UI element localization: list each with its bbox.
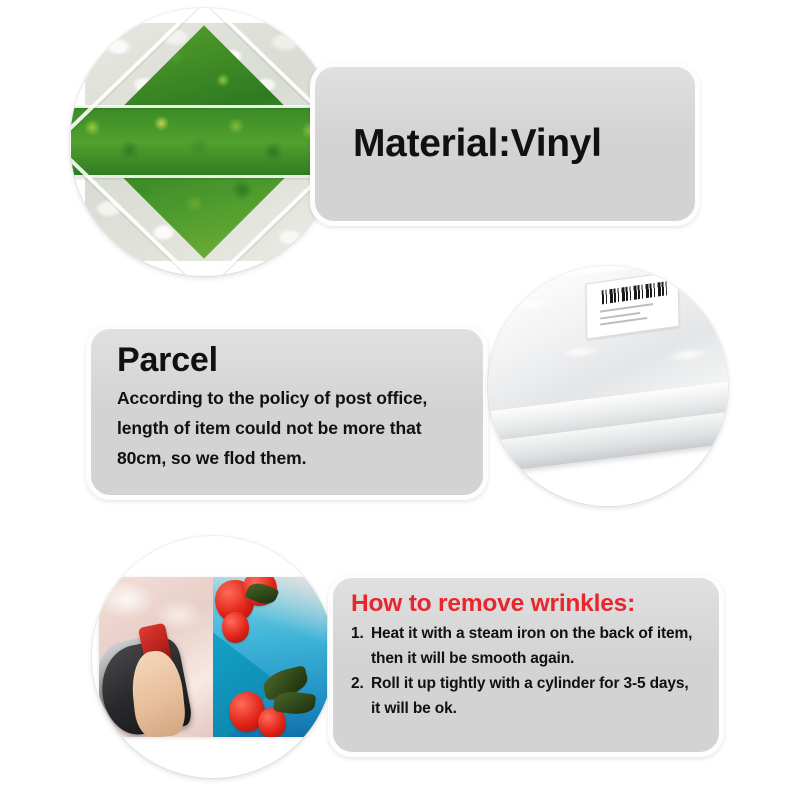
wrinkles-step-1-text: Heat it with a steam iron on the back of… bbox=[371, 621, 703, 671]
decal-seam-top bbox=[70, 105, 338, 108]
wrinkles-panel-inner: How to remove wrinkles: 1. Heat it with … bbox=[333, 578, 719, 752]
material-info-panel: Material:Vinyl bbox=[310, 62, 700, 226]
vinyl-leaf-wall-decal-photo bbox=[70, 8, 338, 276]
parcel-body-line-1: According to the policy of post office, bbox=[117, 383, 463, 413]
material-panel-inner: Material:Vinyl bbox=[315, 67, 695, 221]
photo-clip-material bbox=[70, 8, 338, 276]
parcel-body: According to the policy of post office, … bbox=[117, 383, 463, 473]
mailer-stack bbox=[488, 271, 728, 473]
leaf-decal-artwork bbox=[85, 23, 323, 261]
steam-iron-decal-photo bbox=[92, 536, 334, 778]
wrinkles-step-1: 1. Heat it with a steam iron on the back… bbox=[351, 621, 703, 671]
decal-seam-bottom bbox=[70, 175, 338, 178]
red-flower-3 bbox=[222, 612, 249, 642]
parcel-title: Parcel bbox=[117, 343, 463, 379]
green-leaf-band bbox=[71, 106, 338, 177]
wrinkles-step-2: 2. Roll it up tightly with a cylinder fo… bbox=[351, 671, 703, 721]
parcel-panel-inner: Parcel According to the policy of post o… bbox=[91, 329, 483, 495]
ironing-photo bbox=[99, 577, 213, 737]
wrinkles-step-2-line-1: Roll it up tightly with a cylinder for 3… bbox=[371, 675, 688, 692]
parcel-body-line-2: length of item could not be more that bbox=[117, 413, 463, 443]
wrinkles-step-1-line-2: then it will be smooth again. bbox=[371, 646, 703, 671]
parcel-body-line-3: 80cm, so we flod them. bbox=[117, 443, 463, 473]
material-title: Material:Vinyl bbox=[353, 122, 602, 166]
wrinkle-photo-pair bbox=[99, 577, 326, 737]
wrinkles-step-2-text: Roll it up tightly with a cylinder for 3… bbox=[371, 671, 703, 721]
label-text-line-1 bbox=[600, 303, 653, 312]
barcode-icon bbox=[601, 281, 667, 304]
flower-decal-photo bbox=[213, 577, 327, 737]
photo-clip-wrinkles bbox=[92, 536, 334, 778]
wrinkles-info-panel: How to remove wrinkles: 1. Heat it with … bbox=[328, 573, 724, 757]
parcel-info-panel: Parcel According to the policy of post o… bbox=[86, 324, 488, 500]
wrinkles-step-1-number: 1. bbox=[351, 621, 371, 671]
product-info-infographic: Material:Vinyl Parcel According to the p… bbox=[0, 0, 800, 800]
packed-parcel-photo bbox=[488, 266, 728, 506]
wrinkle-removal-artwork bbox=[92, 536, 334, 778]
photo-clip-parcel bbox=[488, 266, 728, 506]
wrinkles-step-1-line-1: Heat it with a steam iron on the back of… bbox=[371, 625, 692, 642]
wrinkles-step-2-line-2: it will be ok. bbox=[371, 696, 703, 721]
bubble-mailer-artwork bbox=[488, 266, 728, 506]
wrinkles-title: How to remove wrinkles: bbox=[351, 590, 703, 618]
wrinkles-step-2-number: 2. bbox=[351, 671, 371, 721]
wrinkles-step-list: 1. Heat it with a steam iron on the back… bbox=[351, 621, 703, 721]
